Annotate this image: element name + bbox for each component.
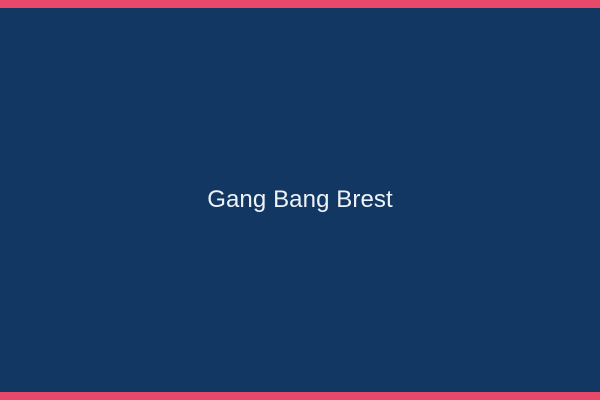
banner-title: Gang Bang Brest [207, 186, 393, 215]
banner-card: Gang Bang Brest [0, 0, 600, 400]
banner-body: Gang Bang Brest [0, 8, 600, 392]
bottom-accent-rule [0, 392, 600, 400]
top-accent-rule [0, 0, 600, 8]
